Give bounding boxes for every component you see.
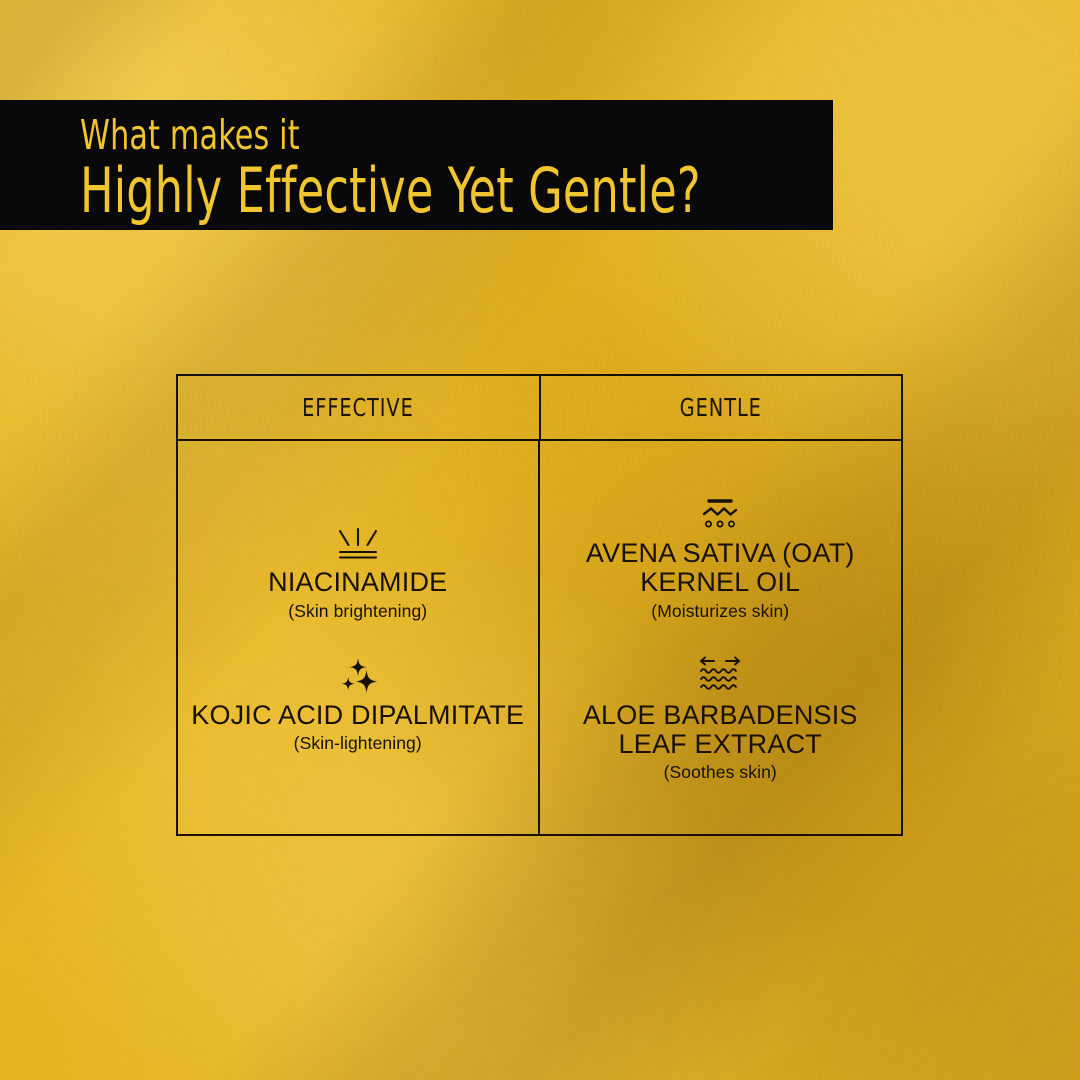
ingredient-name: AVENA SATIVA (OAT) KERNEL OIL (546, 539, 896, 598)
ingredient-niacinamide: NIACINAMIDE (Skin brightening) (184, 521, 532, 621)
table-header-effective: EFFECTIVE (178, 376, 541, 439)
ingredient-note: (Skin brightening) (288, 601, 427, 622)
sparkles-icon (335, 654, 381, 696)
brightness-rays-icon (331, 521, 385, 563)
table-header-effective-label: EFFECTIVE (302, 393, 414, 422)
ingredient-aloe-barbadensis-leaf-extract: ALOE BARBADENSIS LEAF EXTRACT (Soothes s… (546, 654, 896, 784)
ingredient-note: (Skin-lightening) (294, 733, 422, 754)
ingredient-avena-sativa-oat-kernel-oil: AVENA SATIVA (OAT) KERNEL OIL (Moisturiz… (546, 492, 896, 622)
moisture-drops-icon (694, 492, 746, 534)
ingredient-note: (Soothes skin) (664, 762, 777, 783)
table-body-row: NIACINAMIDE (Skin brightening) KOJIC ACI… (178, 441, 901, 834)
table-header-gentle: GENTLE (541, 376, 902, 439)
ingredient-name: NIACINAMIDE (268, 568, 447, 597)
soothing-waves-icon (695, 654, 745, 696)
table-header-gentle-label: GENTLE (680, 393, 762, 422)
headline-line-1: What makes it (80, 115, 697, 156)
ingredient-name: KOJIC ACID DIPALMITATE (191, 701, 524, 730)
headline-banner: What makes it Highly Effective Yet Gentl… (0, 100, 833, 230)
table-column-effective: NIACINAMIDE (Skin brightening) KOJIC ACI… (178, 441, 540, 834)
table-header-row: EFFECTIVE GENTLE (178, 376, 901, 441)
headline-line-2: Highly Effective Yet Gentle? (80, 160, 682, 222)
poster-canvas: What makes it Highly Effective Yet Gentl… (0, 0, 1080, 1080)
table-column-gentle: AVENA SATIVA (OAT) KERNEL OIL (Moisturiz… (540, 441, 902, 834)
comparison-table: EFFECTIVE GENTLE (176, 374, 903, 836)
ingredient-note: (Moisturizes skin) (651, 601, 789, 622)
ingredient-kojic-acid-dipalmitate: KOJIC ACID DIPALMITATE (Skin-lightening) (184, 654, 532, 754)
ingredient-name: ALOE BARBADENSIS LEAF EXTRACT (546, 701, 896, 760)
